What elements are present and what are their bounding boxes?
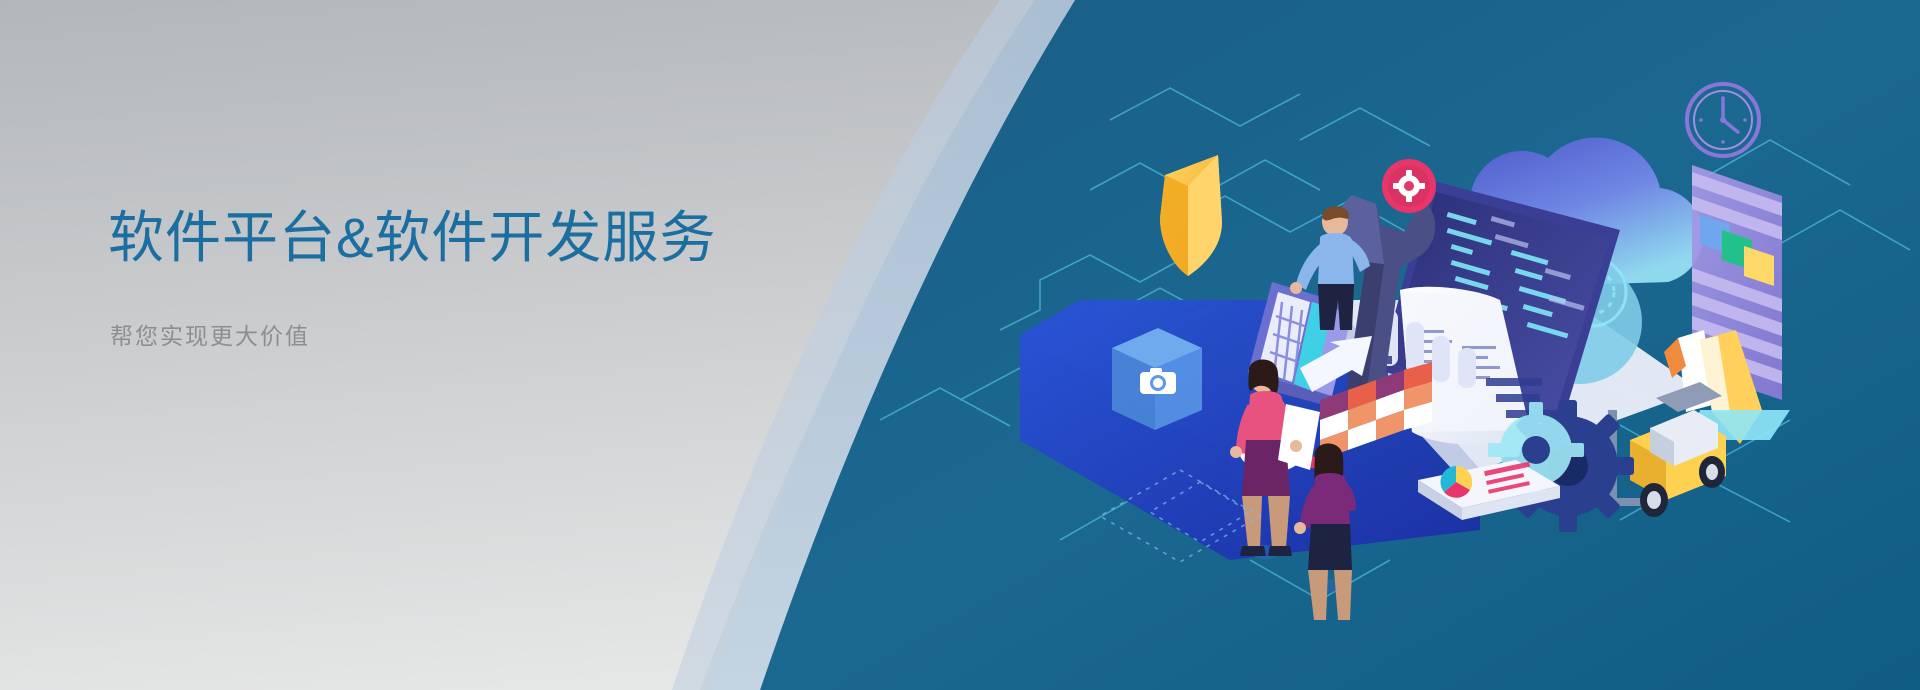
gear-badge-icon bbox=[1382, 159, 1436, 213]
page-title: 软件平台&软件开发服务 bbox=[108, 205, 716, 271]
page-subtitle: 帮您实现更大价值 bbox=[110, 317, 716, 351]
hero-banner: 软件平台&软件开发服务 帮您实现更大价值 bbox=[0, 0, 1920, 690]
camera-icon bbox=[1112, 328, 1202, 430]
hero-text-block: 软件平台&软件开发服务 帮您实现更大价值 bbox=[108, 205, 716, 351]
